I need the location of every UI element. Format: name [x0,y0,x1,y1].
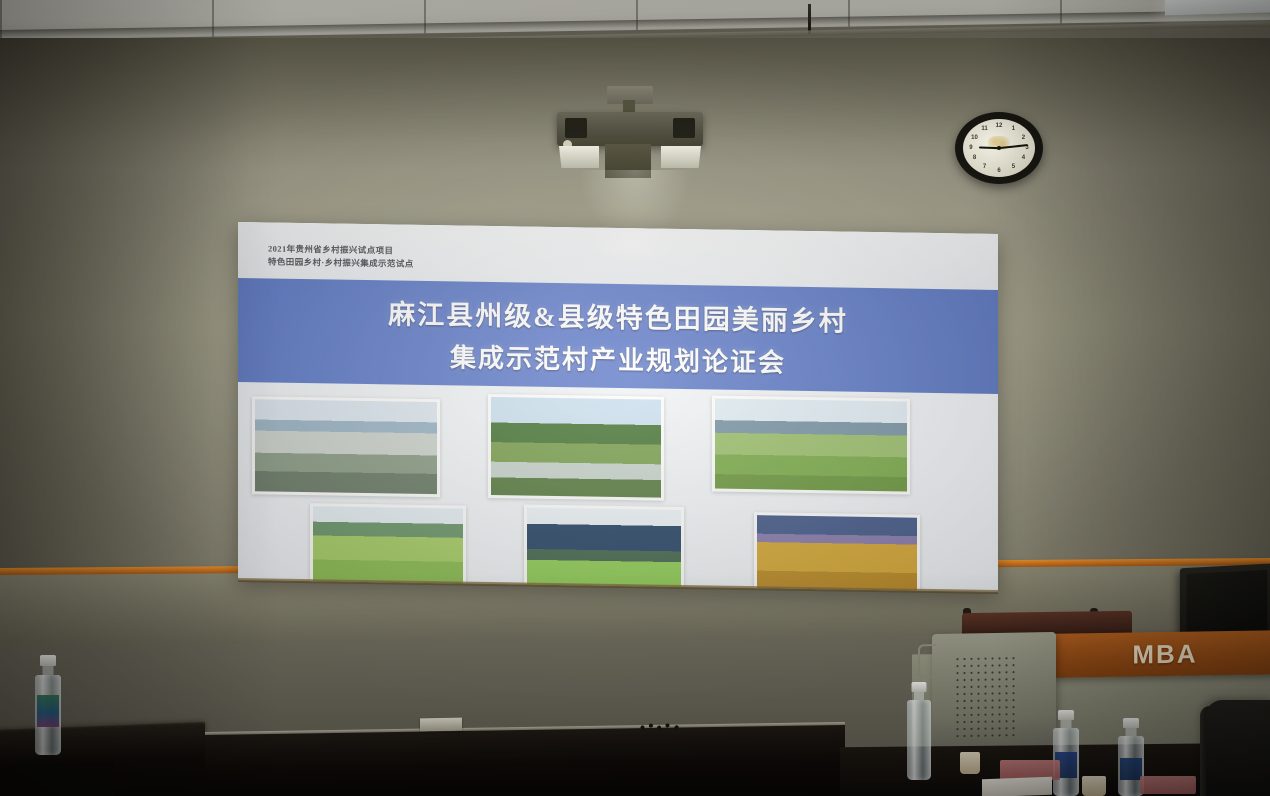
photo-image-golden-fields-blossom [757,515,917,592]
clock-hour-7: 7 [983,164,986,170]
slide-title-line-1: 麻江县州级&县级特色田园美丽乡村 [388,292,848,338]
slide: 2021年贵州省乡村振兴试点项目 特色田园乡村·乡村振兴集成示范试点 麻江县州级… [238,222,998,592]
photo-image-riverside-fields-bridge [715,399,907,492]
podium-mba-sign: MBA [1054,630,1270,677]
slide-title-line-2: 集成示范村产业规划论证会 [450,337,786,379]
clock-hour-6: 6 [997,168,1000,174]
wall-shadow-left [0,38,250,638]
speaker-handle[interactable] [918,644,936,678]
cup-left [960,752,980,774]
photo-image-aerial-valley-farmland [255,399,437,494]
podium-sign-label: MBA [1132,638,1197,670]
wall-clock: 12 1 2 3 4 5 6 7 8 9 10 11 [955,112,1043,184]
speaker-cabinet [932,632,1056,752]
foreground-dark-mass [0,761,114,796]
slide-photo-3 [712,395,910,494]
water-bottle-podium-left[interactable] [907,682,931,780]
conference-room: 12 1 2 3 4 5 6 7 8 9 10 11 [0,0,1270,796]
desk-center [205,725,845,796]
slide-title-band: 麻江县州级&县级特色田园美丽乡村 集成示范村产业规划论证会 [238,278,998,394]
clock-hour-12: 12 [996,123,1003,129]
slide-photo-gallery [238,382,998,592]
clock-hour-9: 9 [969,145,972,151]
cup-right [1082,776,1106,796]
slide-photo-2 [488,394,664,501]
water-bottle-far-left[interactable] [35,655,61,755]
ceiling-projector [545,90,715,180]
slide-photo-6 [754,512,920,592]
chair-right[interactable] [1206,700,1270,796]
slide-photo-5 [524,505,684,592]
projector-vent-left [565,118,587,138]
clock-hour-10: 10 [971,135,978,141]
paper-on-podium-desk [982,777,1052,796]
clock-center-pin [997,146,1001,150]
clock-hour-2: 2 [1022,135,1025,141]
projector-lens-housing [605,144,651,178]
clock-hour-11: 11 [981,126,987,132]
projector-panel-right [661,146,701,168]
clock-face: 12 1 2 3 4 5 6 7 8 9 10 11 [963,119,1035,177]
clock-hour-1: 1 [1012,126,1015,132]
speaker-grille [954,655,1016,742]
photo-image-rice-paddy-with-mountain [527,508,681,592]
pink-item-right [1140,776,1196,794]
photo-image-green-village-greenhouses [491,397,661,498]
clock-hour-5: 5 [1012,164,1015,170]
projector-panel-left [559,146,599,168]
slide-photo-1 [252,396,440,497]
clock-hour-4: 4 [1022,155,1025,161]
water-bottle-center[interactable] [1053,710,1079,796]
projection-screen: 2021年贵州省乡村振兴试点项目 特色田园乡村·乡村振兴集成示范试点 麻江县州级… [238,222,998,592]
white-box-on-desk[interactable] [420,718,462,732]
clock-hour-8: 8 [973,155,976,161]
stationery-clips-on-desk[interactable] [638,722,684,731]
projector-vent-right [673,118,695,138]
